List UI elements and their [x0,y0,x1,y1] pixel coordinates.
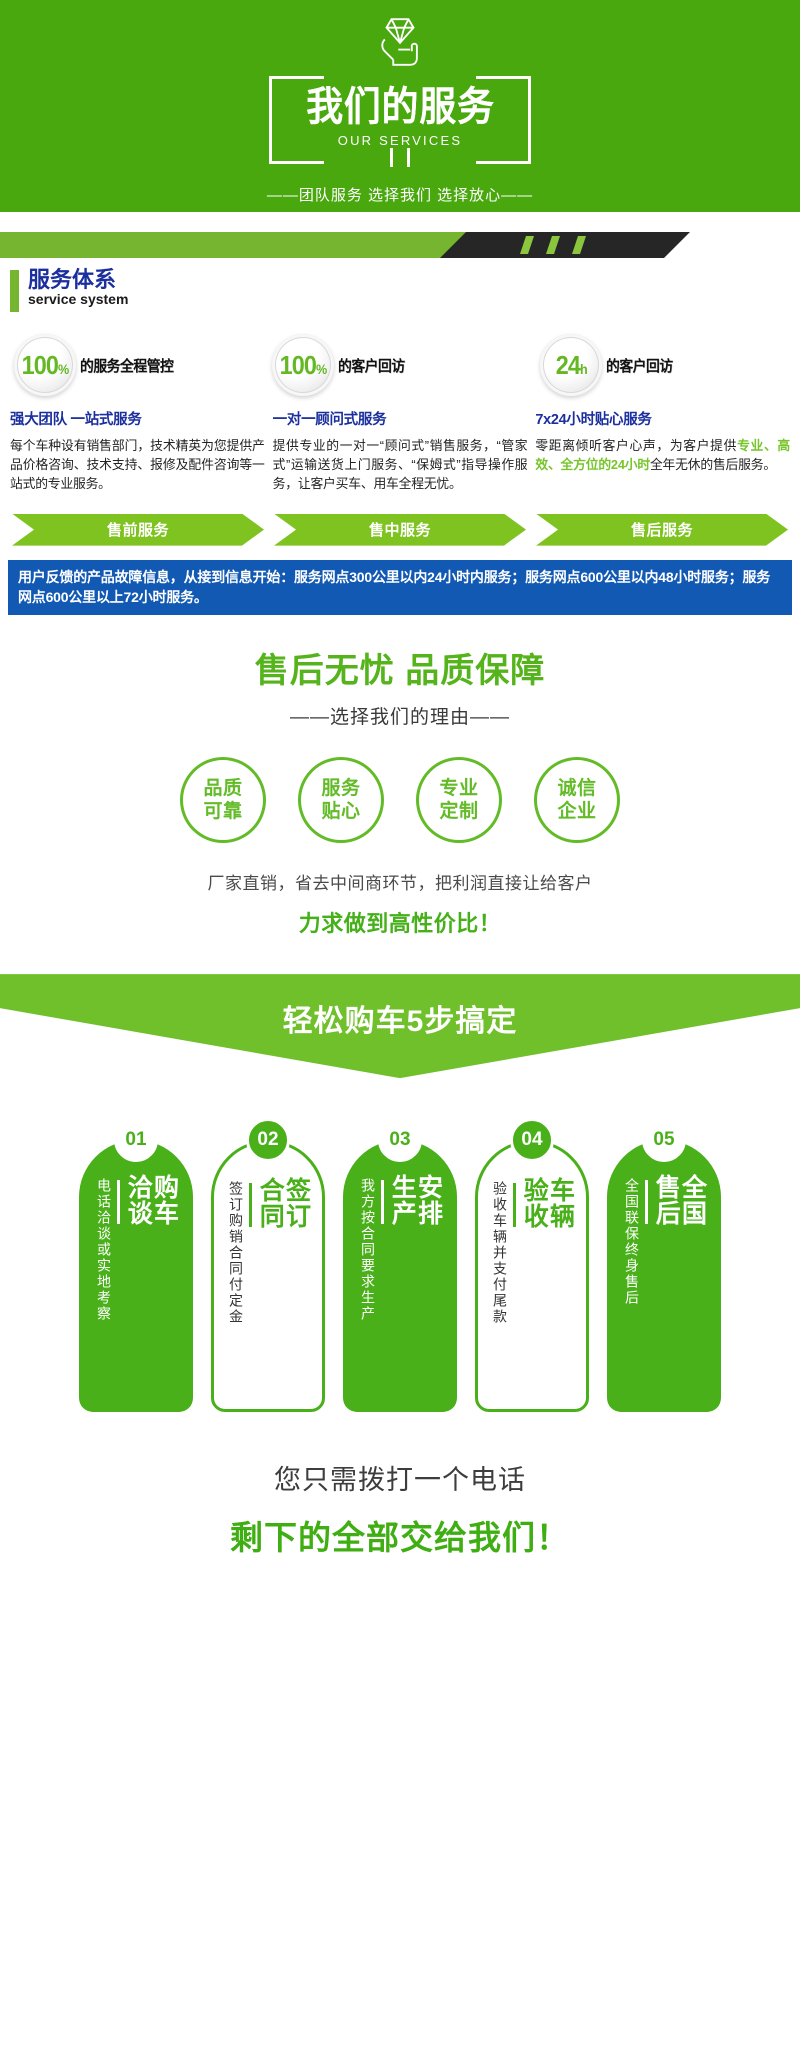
steps-banner-title: 轻松购车5步搞定 [0,996,800,1040]
step-item-05[interactable]: 05 全国售后 全国联保终身售后 [607,1118,721,1412]
band-dark-shape [440,232,690,258]
badge-circle: 100% [14,334,76,396]
reason-line2: 可靠 [203,800,242,823]
hero-banner: 我们的服务 OUR SERVICES ——团队服务 选择我们 选择放心—— [0,0,800,212]
reason-line1: 专业 [439,777,478,800]
decor-band [0,226,800,272]
step-body: 车辆验收 验收车辆并支付尾款 [475,1140,589,1412]
step-divider [645,1180,648,1224]
step-title: 购车洽谈 [125,1174,178,1244]
step-item-03[interactable]: 03 安排生产 我方按合同要求生产 [343,1118,457,1412]
step-divider [381,1180,384,1224]
stage-arrow-aftersale[interactable]: 售后服务 [536,514,788,546]
feature-body: 提供专业的一对一“顾问式”销售服务，“管家式”运输送货上门服务、“保姆式”指导操… [273,436,528,494]
step-title: 安排生产 [389,1174,442,1244]
reason-line1: 诚信 [557,777,596,800]
feature-column: 7x24小时贴心服务 零距离倾听客户心声，为客户提供专业、高效、全方位的24小时… [535,408,790,494]
hero-tagline: ——团队服务 选择我们 选择放心—— [267,184,533,205]
promo-section: 厂家直销，省去中间商环节，把利润直接让给客户 力求做到高性价比！ [0,869,800,938]
step-title: 全国售后 [653,1174,706,1244]
reason-oval: 品质 可靠 [180,757,266,843]
step-divider [249,1183,252,1227]
reason-line2: 企业 [557,800,596,823]
reasons-oval-row: 品质 可靠 服务 贴心 专业 定制 诚信 企业 [0,757,800,843]
badge-value: 100% [22,352,69,378]
page-title: 我们的服务 [306,87,495,127]
step-desc: 全国联保终身售后 [623,1174,641,1306]
step-body: 购车洽谈 电话洽谈或实地考察 [79,1140,193,1412]
step-title: 车辆验收 [521,1177,574,1247]
step-number: 04 [510,1118,554,1162]
feature-title: 强大团队 一站式服务 [10,408,265,429]
step-body: 签订合同 签订购销合同付定金 [211,1140,325,1412]
reason-oval: 专业 定制 [416,757,502,843]
page-subtitle: OUR SERVICES [338,133,462,148]
step-body: 安排生产 我方按合同要求生产 [343,1140,457,1412]
feature-column: 强大团队 一站式服务 每个车种设有销售部门，技术精英为您提供产品价格咨询、技术支… [10,408,265,494]
diamond-hand-icon [373,14,427,70]
step-desc: 电话洽谈或实地考察 [95,1174,113,1322]
feature-title: 一对一顾问式服务 [273,408,528,429]
service-stage-arrows: 售前服务 售中服务 售后服务 [0,514,800,546]
hero-notch [390,148,410,167]
step-number: 05 [642,1118,686,1162]
badge-value: 100% [280,352,327,378]
footer-line-2: 剩下的全部交给我们！ [0,1511,800,1559]
step-body: 全国售后 全国联保终身售后 [607,1140,721,1412]
stage-arrow-midsale[interactable]: 售中服务 [274,514,526,546]
reasons-title: 售后无忧 品质保障 [0,643,800,692]
feature-title: 7x24小时贴心服务 [535,408,790,429]
footer-cta: 您只需拨打一个电话 剩下的全部交给我们！ [0,1458,800,1587]
reason-line2: 定制 [439,800,478,823]
section-heading-en: service system [28,292,128,307]
step-number: 03 [378,1118,422,1162]
service-page: 我们的服务 OUR SERVICES ——团队服务 选择我们 选择放心—— 服务… [0,0,800,1587]
badge-item: 100% 的服务全程管控 [14,334,260,396]
step-divider [513,1183,516,1227]
section-accent-bar [10,270,19,312]
reason-line1: 服务 [321,777,360,800]
reason-line2: 贴心 [321,800,360,823]
feature-columns: 强大团队 一站式服务 每个车种设有销售部门，技术精英为您提供产品价格咨询、技术支… [0,408,800,494]
reasons-subtitle: ——选择我们的理由—— [0,702,800,729]
band-green-shape [0,232,468,258]
badge-circle: 24h [540,334,602,396]
step-item-02[interactable]: 02 签订合同 签订购销合同付定金 [211,1118,325,1412]
reason-oval: 服务 贴心 [298,757,384,843]
step-desc: 验收车辆并支付尾款 [491,1177,509,1325]
badges-row: 100% 的服务全程管控 100% 的客户回访 24h 的客户回访 [0,334,800,396]
step-item-04[interactable]: 04 车辆验收 验收车辆并支付尾款 [475,1118,589,1412]
hero-title-frame: 我们的服务 OUR SERVICES [269,76,531,158]
step-title: 签订合同 [257,1177,310,1247]
steps-banner: 轻松购车5步搞定 [0,974,800,1078]
feature-body: 每个车种设有销售部门，技术精英为您提供产品价格咨询、技术支持、报修及配件咨询等一… [10,436,265,494]
badge-label: 的客户回访 [338,355,405,376]
step-desc: 我方按合同要求生产 [359,1174,377,1322]
reason-oval: 诚信 企业 [534,757,620,843]
reasons-section: 售后无忧 品质保障 ——选择我们的理由—— 品质 可靠 服务 贴心 专业 定制 … [0,643,800,843]
badge-label: 的服务全程管控 [80,355,173,376]
stage-arrow-presale[interactable]: 售前服务 [12,514,264,546]
step-number: 01 [114,1118,158,1162]
section-heading: 服务体系 service system [0,268,800,312]
purchase-steps: 01 购车洽谈 电话洽谈或实地考察 02 签订合同 签订购销合同付定金 03 安… [0,1118,800,1412]
badge-value: 24h [555,352,586,378]
service-notice-bar: 用户反馈的产品故障信息，从接到信息开始：服务网点300公里以内24小时内服务；服… [8,560,792,616]
footer-line-1: 您只需拨打一个电话 [0,1458,800,1497]
reason-line1: 品质 [203,777,242,800]
badge-item: 100% 的客户回访 [260,334,518,396]
step-item-01[interactable]: 01 购车洽谈 电话洽谈或实地考察 [79,1118,193,1412]
badge-item: 24h 的客户回访 [518,334,786,396]
step-desc: 签订购销合同付定金 [227,1177,245,1325]
feature-column: 一对一顾问式服务 提供专业的一对一“顾问式”销售服务，“管家式”运输送货上门服务… [273,408,528,494]
badge-circle: 100% [272,334,334,396]
feature-body: 零距离倾听客户心声，为客户提供专业、高效、全方位的24小时全年无休的售后服务。 [535,436,790,474]
step-number: 02 [246,1118,290,1162]
step-divider [117,1180,120,1224]
badge-label: 的客户回访 [606,355,673,376]
promo-line-1: 厂家直销，省去中间商环节，把利润直接让给客户 [0,869,800,894]
promo-line-2: 力求做到高性价比！ [0,906,800,938]
